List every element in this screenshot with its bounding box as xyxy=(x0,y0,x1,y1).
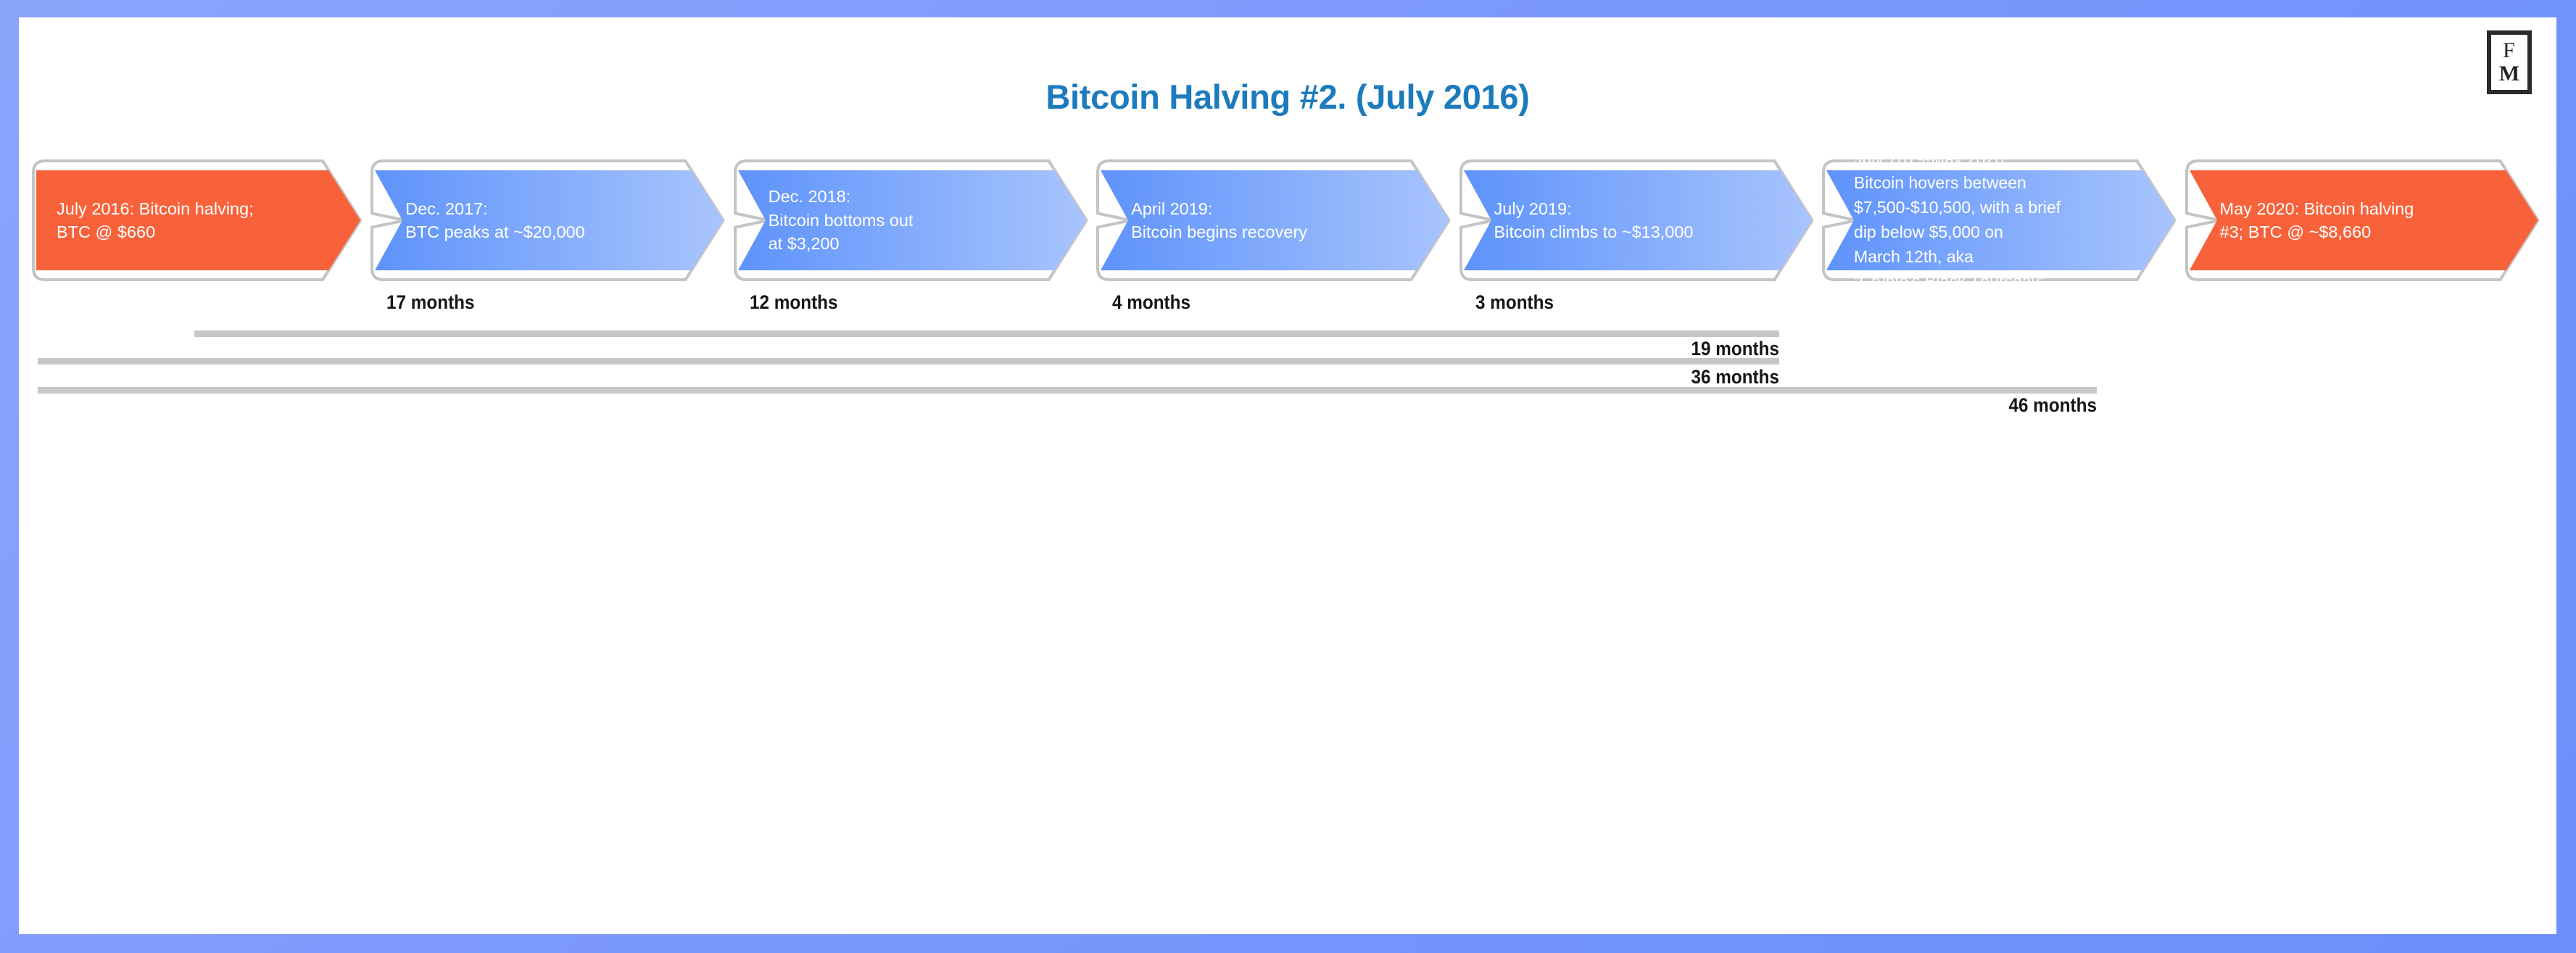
span-label-span-19-months: 19 months xyxy=(1583,338,1779,360)
gap-label-gap-3: 4 months xyxy=(1112,291,1190,314)
timeline-chevron-row: July 2016: Bitcoin halving; BTC @ $660 D… xyxy=(29,158,2545,283)
chevron-body xyxy=(1101,170,1449,270)
timeline-step-hover-2019-2020[interactable]: July 2019-May 2020: Bitcoin hovers betwe… xyxy=(1819,158,2182,283)
chevron-body xyxy=(375,170,723,270)
infographic-canvas: F M Bitcoin Halving #2. (July 2016) July… xyxy=(19,17,2556,934)
chevron-body xyxy=(1464,170,1812,270)
chevron-body xyxy=(1826,170,2174,270)
gap-label-gap-2: 12 months xyxy=(750,291,838,314)
timeline-step-halving-2020[interactable]: May 2020: Bitcoin halving #3; BTC @ ~$8,… xyxy=(2182,158,2545,283)
infographic-root: F M Bitcoin Halving #2. (July 2016) July… xyxy=(0,0,2576,953)
timeline-step-bottom-dec-2018[interactable]: Dec. 2018: Bitcoin bottoms out at $3,200 xyxy=(731,158,1093,283)
span-bar-span-19-months xyxy=(194,330,1779,337)
gap-label-gap-4: 3 months xyxy=(1475,291,1554,314)
timeline-step-peak-dec-2017[interactable]: Dec. 2017: BTC peaks at ~$20,000 xyxy=(368,158,730,283)
logo-letter-f: F xyxy=(2503,40,2516,62)
chevron-body xyxy=(738,170,1086,270)
span-bar-span-36-months xyxy=(38,358,1779,365)
timeline-step-climb-july-2019[interactable]: July 2019: Bitcoin climbs to ~$13,000 xyxy=(1457,158,1819,283)
page-title: Bitcoin Halving #2. (July 2016) xyxy=(19,77,2556,117)
span-label-span-36-months: 36 months xyxy=(1583,366,1779,388)
gap-label-gap-1: 17 months xyxy=(386,291,475,314)
chevron-body xyxy=(36,170,360,270)
chevron-body xyxy=(2190,170,2538,270)
timeline-step-halving-2016[interactable]: July 2016: Bitcoin halving; BTC @ $660 xyxy=(29,158,368,283)
span-label-span-46-months: 46 months xyxy=(1901,394,2097,417)
span-bar-span-46-months xyxy=(38,387,2097,394)
timeline-step-recovery-april-2019[interactable]: April 2019: Bitcoin begins recovery xyxy=(1093,158,1456,283)
